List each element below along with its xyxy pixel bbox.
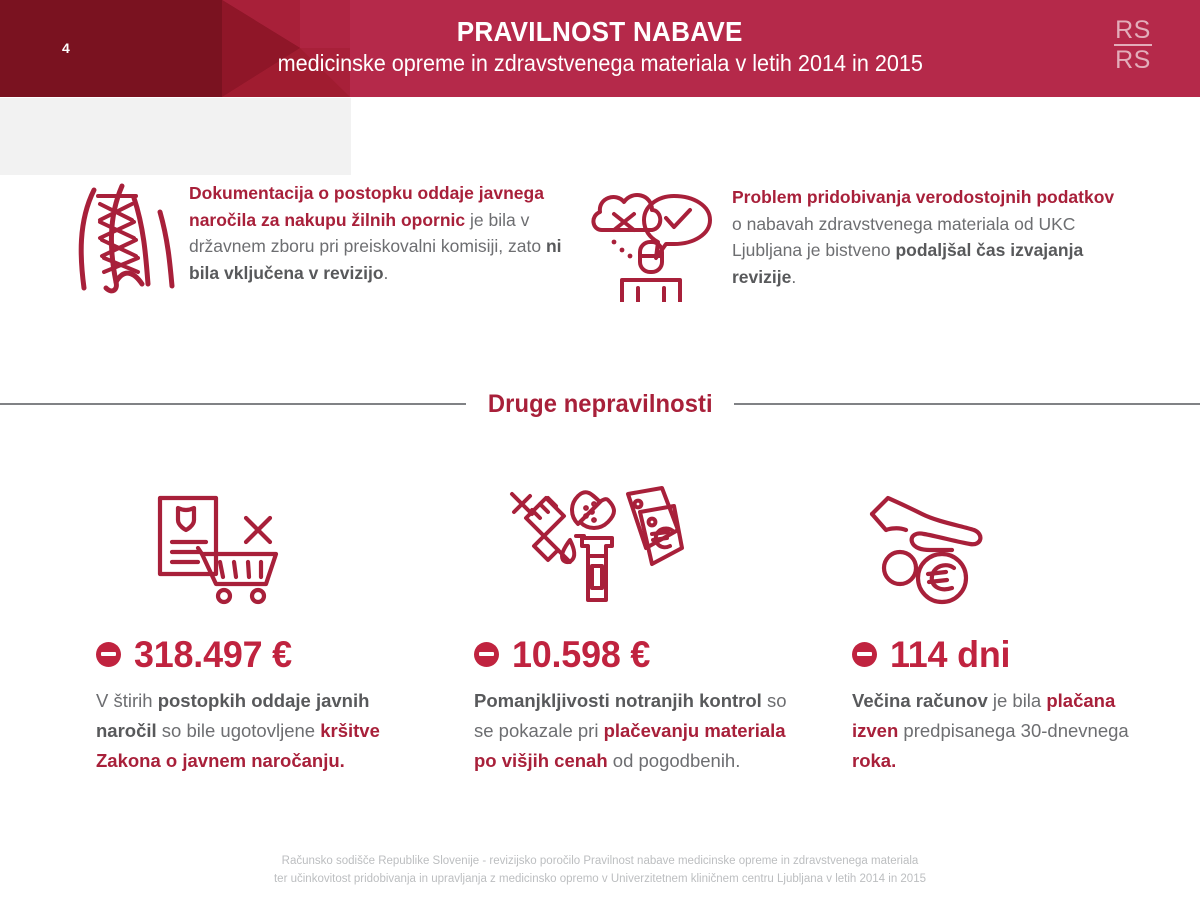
text-segment: Večina računov: [852, 690, 988, 711]
minus-circle-icon: [474, 642, 499, 667]
stat-description: Pomanjkljivosti notranjih kontrol so se …: [474, 686, 804, 776]
rs-rs-logo: RS RS: [1114, 17, 1152, 73]
divider-line-right: [734, 403, 1200, 405]
footer-line-1: Računsko sodišče Republike Slovenije - r…: [0, 853, 1200, 871]
page-header: 4 PRAVILNOST NABAVE medicinske opreme in…: [0, 0, 1200, 97]
decorative-grey-block: [0, 98, 351, 175]
text-segment: predpisanega 30-dnevnega: [898, 720, 1128, 741]
artery-stent-icon: [72, 178, 177, 305]
text-segment: je bila: [988, 690, 1047, 711]
text-segment: od pogodbenih.: [608, 750, 741, 771]
text-segment: V štirih: [96, 690, 158, 711]
text-segment: roka.: [852, 750, 896, 771]
stat-row: 318.497 €: [96, 632, 426, 676]
statistics-columns: 318.497 € V štirih postopkih oddaje javn…: [0, 470, 1200, 820]
stat-value: 114 dni: [890, 636, 1010, 673]
page-footer: Računsko sodišče Republike Slovenije - r…: [0, 853, 1200, 889]
minus-circle-icon: [96, 642, 121, 667]
finding-panel-documentation: Dokumentacija o postopku oddaje javnega …: [72, 178, 572, 305]
section-divider-other-irregularities: Druge nepravilnosti: [0, 386, 1200, 422]
header-title-group: PRAVILNOST NABAVE medicinske opreme in z…: [0, 0, 1200, 97]
text-segment: .: [384, 263, 389, 283]
stat-value: 10.598 €: [512, 636, 650, 673]
hand-euro-coin-icon: [852, 470, 1162, 610]
logo-line-bottom: RS: [1115, 47, 1151, 73]
section-title: Druge nepravilnosti: [472, 390, 727, 419]
document-shield-cart-x-icon: [96, 470, 426, 610]
page-title: PRAVILNOST NABAVE: [457, 16, 743, 47]
stat-description: Večina računov je bila plačana izven pre…: [852, 686, 1162, 776]
text-segment: so bile ugotovljene: [157, 720, 321, 741]
syringe-bandage-pricetag-icon: [474, 470, 804, 610]
page-subtitle: medicinske opreme in zdravstvenega mater…: [277, 49, 922, 79]
stat-description: V štirih postopkih oddaje javnih naročil…: [96, 686, 426, 776]
stat-column-internal-controls: 10.598 € Pomanjkljivosti notranjih kontr…: [474, 470, 804, 776]
finding-panel-documentation-text: Dokumentacija o postopku oddaje javnega …: [189, 178, 572, 286]
text-segment: Problem pridobivanja verodostojnih podat…: [732, 187, 1114, 207]
footer-line-2: ter učinkovitost pridobivanja in upravlj…: [0, 871, 1200, 889]
infographic-page: 4 PRAVILNOST NABAVE medicinske opreme in…: [0, 0, 1200, 902]
finding-panel-data-problem: Problem pridobivanja verodostojnih podat…: [588, 184, 1128, 307]
stat-column-payment-deadline: 114 dni Večina računov je bila plačana i…: [852, 470, 1162, 776]
text-segment: .: [791, 267, 796, 287]
logo-line-top: RS: [1115, 17, 1151, 43]
finding-panel-data-problem-text: Problem pridobivanja verodostojnih podat…: [732, 184, 1128, 290]
text-segment: Pomanjkljivosti notranjih kontrol: [474, 690, 762, 711]
top-findings-group: Dokumentacija o postopku oddaje javnega …: [0, 178, 1200, 328]
cloud-speech-person-icon: [588, 184, 720, 307]
stat-row: 10.598 €: [474, 632, 804, 676]
stat-value: 318.497 €: [134, 636, 292, 673]
minus-circle-icon: [852, 642, 877, 667]
stat-row: 114 dni: [852, 632, 1162, 676]
stat-column-public-procurement: 318.497 € V štirih postopkih oddaje javn…: [96, 470, 426, 776]
divider-line-left: [0, 403, 466, 405]
